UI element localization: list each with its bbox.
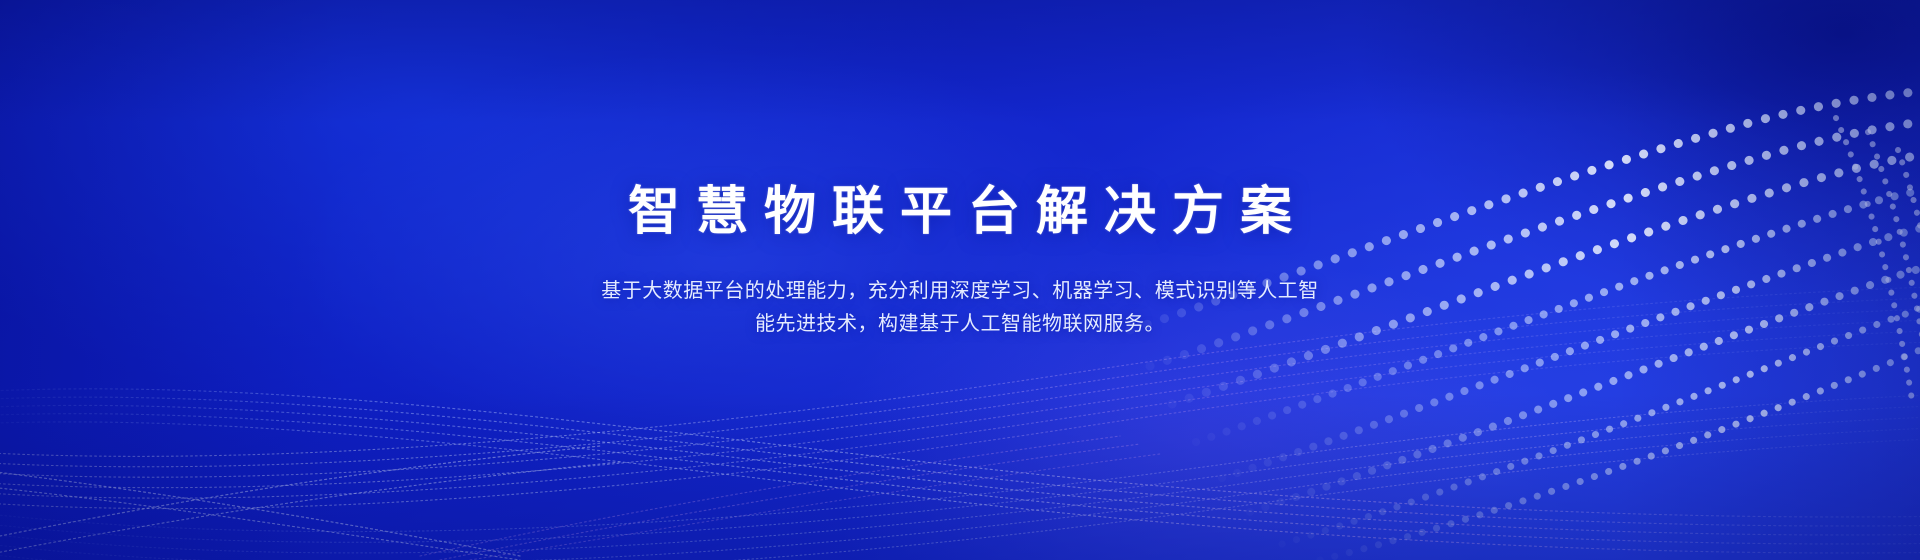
hero-banner: 智慧物联平台解决方案 基于大数据平台的处理能力，充分利用深度学习、机器学习、模式… <box>0 0 1920 560</box>
subtitle-line-1: 基于大数据平台的处理能力，充分利用深度学习、机器学习、模式识别等人工智 <box>595 275 1325 307</box>
banner-subtitle: 基于大数据平台的处理能力，充分利用深度学习、机器学习、模式识别等人工智 能先进技… <box>595 275 1325 340</box>
subtitle-line-2: 能先进技术，构建基于人工智能物联网服务。 <box>595 308 1325 340</box>
banner-content: 智慧物联平台解决方案 基于大数据平台的处理能力，充分利用深度学习、机器学习、模式… <box>0 182 1920 340</box>
page-title: 智慧物联平台解决方案 <box>0 182 1920 243</box>
